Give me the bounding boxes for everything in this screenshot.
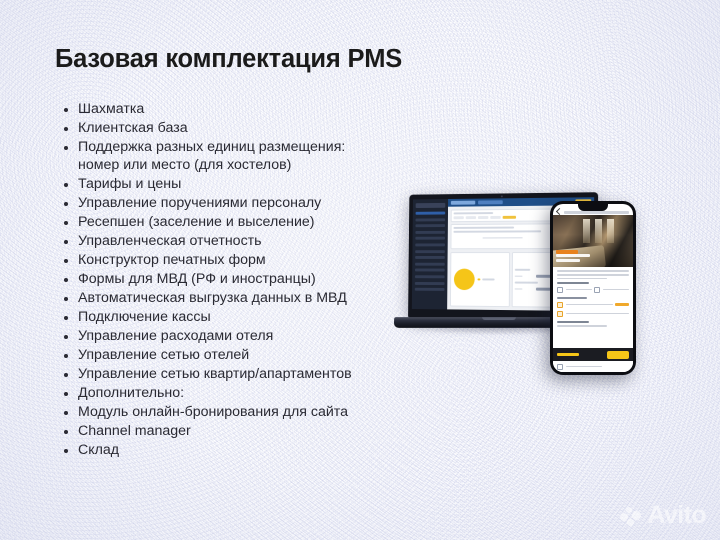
- kpi-label: [515, 275, 523, 277]
- filter-card: [451, 209, 556, 223]
- logo-dot: [620, 513, 628, 521]
- list-item: Управленческая отчетность: [60, 232, 410, 250]
- kpi-row: [515, 275, 553, 278]
- kpi-row: [515, 288, 553, 291]
- list-item-label: Тарифы и цены: [78, 176, 181, 192]
- logo-dot: [627, 519, 634, 526]
- sidebar-item: [415, 282, 445, 285]
- dashboard-main-column: [450, 209, 556, 308]
- text-content-column: Базовая комплектация PMS Шахматка Клиент…: [0, 0, 400, 540]
- list-item-label: Управление поручениями персоналу: [78, 195, 321, 211]
- list-item: Управление поручениями персоналу: [60, 194, 410, 212]
- phone-mockup: [550, 201, 636, 375]
- list-item-label: Формы для МВД (РФ и иностранцы): [78, 271, 316, 287]
- list-item-label-continued: номер или место (для хостелов): [78, 156, 410, 174]
- sidebar-item: [415, 231, 445, 234]
- table-header-row: [453, 230, 540, 232]
- pie-chart-legend: [477, 278, 494, 281]
- window-detail: [583, 219, 590, 243]
- list-item: Шахматка: [60, 100, 410, 118]
- list-item-label: Склад: [78, 442, 119, 458]
- rate-label: [566, 313, 630, 315]
- rate-option-row: [557, 311, 629, 317]
- webcam-icon: [501, 195, 503, 197]
- price-value: [557, 353, 579, 357]
- extras-heading: [557, 321, 589, 323]
- list-item-label: Автоматическая выгрузка данных в МВД: [78, 290, 347, 306]
- phone-notch: [578, 204, 608, 211]
- sidebar-item: [416, 212, 446, 215]
- person-icon: [557, 287, 563, 293]
- list-item: Поддержка разных единиц размещения: номе…: [60, 138, 410, 175]
- back-arrow-icon: [556, 207, 563, 214]
- kpi-divider: [515, 282, 538, 284]
- rate-option-row: [557, 302, 629, 308]
- bed-label: [603, 289, 629, 291]
- avito-wordmark: Avito: [647, 503, 706, 528]
- tab-secondary: [478, 200, 503, 205]
- filter-chip: [490, 216, 500, 219]
- list-item-label: Клиентская база: [78, 120, 188, 136]
- sidebar-item: [415, 269, 445, 272]
- list-item-label: Шахматка: [78, 101, 144, 117]
- list-item: Channel manager: [60, 422, 410, 440]
- checkbox-icon: [557, 364, 563, 370]
- sidebar-item: [415, 224, 445, 227]
- sidebar-item: [415, 243, 445, 246]
- list-item-label: Управление сетью квартир/апартаментов: [78, 366, 352, 382]
- list-item: Дополнительно:: [60, 384, 410, 402]
- list-item-label: Управленческая отчетность: [78, 233, 262, 249]
- list-item: Конструктор печатных форм: [60, 251, 410, 269]
- list-item: Автоматическая выгрузка данных в МВД: [60, 289, 410, 307]
- sidebar-item: [415, 250, 445, 253]
- room-photo: [553, 215, 633, 267]
- card-heading-line: [454, 212, 493, 214]
- feature-bullet-list: Шахматка Клиентская база Поддержка разны…: [60, 100, 410, 460]
- list-item: Тарифы и цены: [60, 175, 410, 193]
- bed-icon: [594, 287, 600, 293]
- check-icon: [557, 302, 563, 308]
- occupancy-row: [557, 287, 629, 293]
- list-item-label: Ресепшен (заселение и выселение): [78, 214, 315, 230]
- check-icon: [557, 311, 563, 317]
- list-item: Управление сетью отелей: [60, 346, 410, 364]
- list-item: Клиентская база: [60, 119, 410, 137]
- logo-dot: [626, 507, 632, 513]
- sidebar-item: [415, 275, 445, 278]
- list-item-label: Конструктор печатных форм: [78, 252, 266, 268]
- phone-header-title: [564, 211, 629, 214]
- phone-footer: [553, 361, 633, 372]
- description-line: [557, 270, 629, 272]
- rate-label: [566, 304, 613, 306]
- device-mockup-image: [392, 183, 652, 375]
- list-item-label: Channel manager: [78, 423, 191, 439]
- phone-booking-bar: [553, 348, 633, 361]
- dashboard-sidebar: [412, 199, 448, 309]
- pie-chart-card: [450, 252, 510, 307]
- description-line: [557, 278, 607, 280]
- list-item-label: Модуль онлайн-бронирования для сайта: [78, 404, 348, 420]
- kpi-card: [512, 252, 556, 308]
- rate-badge: [615, 303, 629, 306]
- room-title: [556, 254, 590, 264]
- logo-dot: [632, 511, 641, 520]
- list-item: Управление сетью квартир/апартаментов: [60, 365, 410, 383]
- filter-row: [454, 215, 553, 219]
- page-title: Базовая комплектация PMS: [55, 45, 402, 74]
- filter-chip: [466, 216, 476, 219]
- phone-screen: [553, 204, 633, 372]
- footer-label: [566, 366, 602, 368]
- avito-watermark: Avito: [620, 503, 706, 528]
- legend-swatch: [477, 278, 479, 280]
- list-item-label: Управление расходами отеля: [78, 328, 273, 344]
- sidebar-item: [415, 256, 445, 259]
- room-title-line: [556, 259, 580, 262]
- dashboard-lower-row: [450, 252, 556, 308]
- section-heading: [557, 297, 587, 299]
- list-item: Модуль онлайн-бронирования для сайта: [60, 403, 410, 421]
- description-line: [557, 274, 629, 276]
- apply-filter-button: [503, 215, 516, 218]
- table-empty-row: [483, 237, 523, 239]
- dashboard-logo: [416, 203, 446, 208]
- list-item-label: Дополнительно:: [78, 385, 184, 401]
- data-table-card: [450, 224, 555, 250]
- extras-line: [557, 325, 607, 327]
- sidebar-item: [415, 262, 445, 265]
- window-detail: [607, 219, 614, 243]
- list-item: Формы для МВД (РФ и иностранцы): [60, 270, 410, 288]
- list-item-label: Поддержка разных единиц размещения:: [78, 139, 345, 155]
- card-heading-line: [453, 227, 514, 229]
- list-item: Склад: [60, 441, 410, 459]
- list-item: Подключение кассы: [60, 308, 410, 326]
- filter-chip: [478, 216, 488, 219]
- slide-root: Базовая комплектация PMS Шахматка Клиент…: [0, 0, 720, 540]
- kpi-label: [515, 288, 523, 290]
- list-item-label: Управление сетью отелей: [78, 347, 249, 363]
- sidebar-item: [416, 218, 446, 221]
- list-item: Ресепшен (заселение и выселение): [60, 213, 410, 231]
- avito-logo-icon: [620, 505, 642, 527]
- card-heading-line: [515, 269, 530, 271]
- laptop-trackpad-notch: [482, 317, 516, 320]
- window-detail: [595, 219, 602, 243]
- expand-link: [557, 282, 589, 284]
- filter-chip: [454, 216, 464, 219]
- room-title-line: [556, 254, 590, 257]
- list-item: Управление расходами отеля: [60, 327, 410, 345]
- occupancy-label: [566, 289, 592, 291]
- tab-active: [451, 200, 475, 205]
- legend-label: [482, 279, 494, 281]
- pie-chart: [454, 269, 475, 291]
- book-now-button: [607, 351, 629, 359]
- list-item-label: Подключение кассы: [78, 309, 211, 325]
- sidebar-item: [415, 237, 445, 240]
- sidebar-item: [415, 288, 445, 291]
- legend-entry: [477, 278, 494, 281]
